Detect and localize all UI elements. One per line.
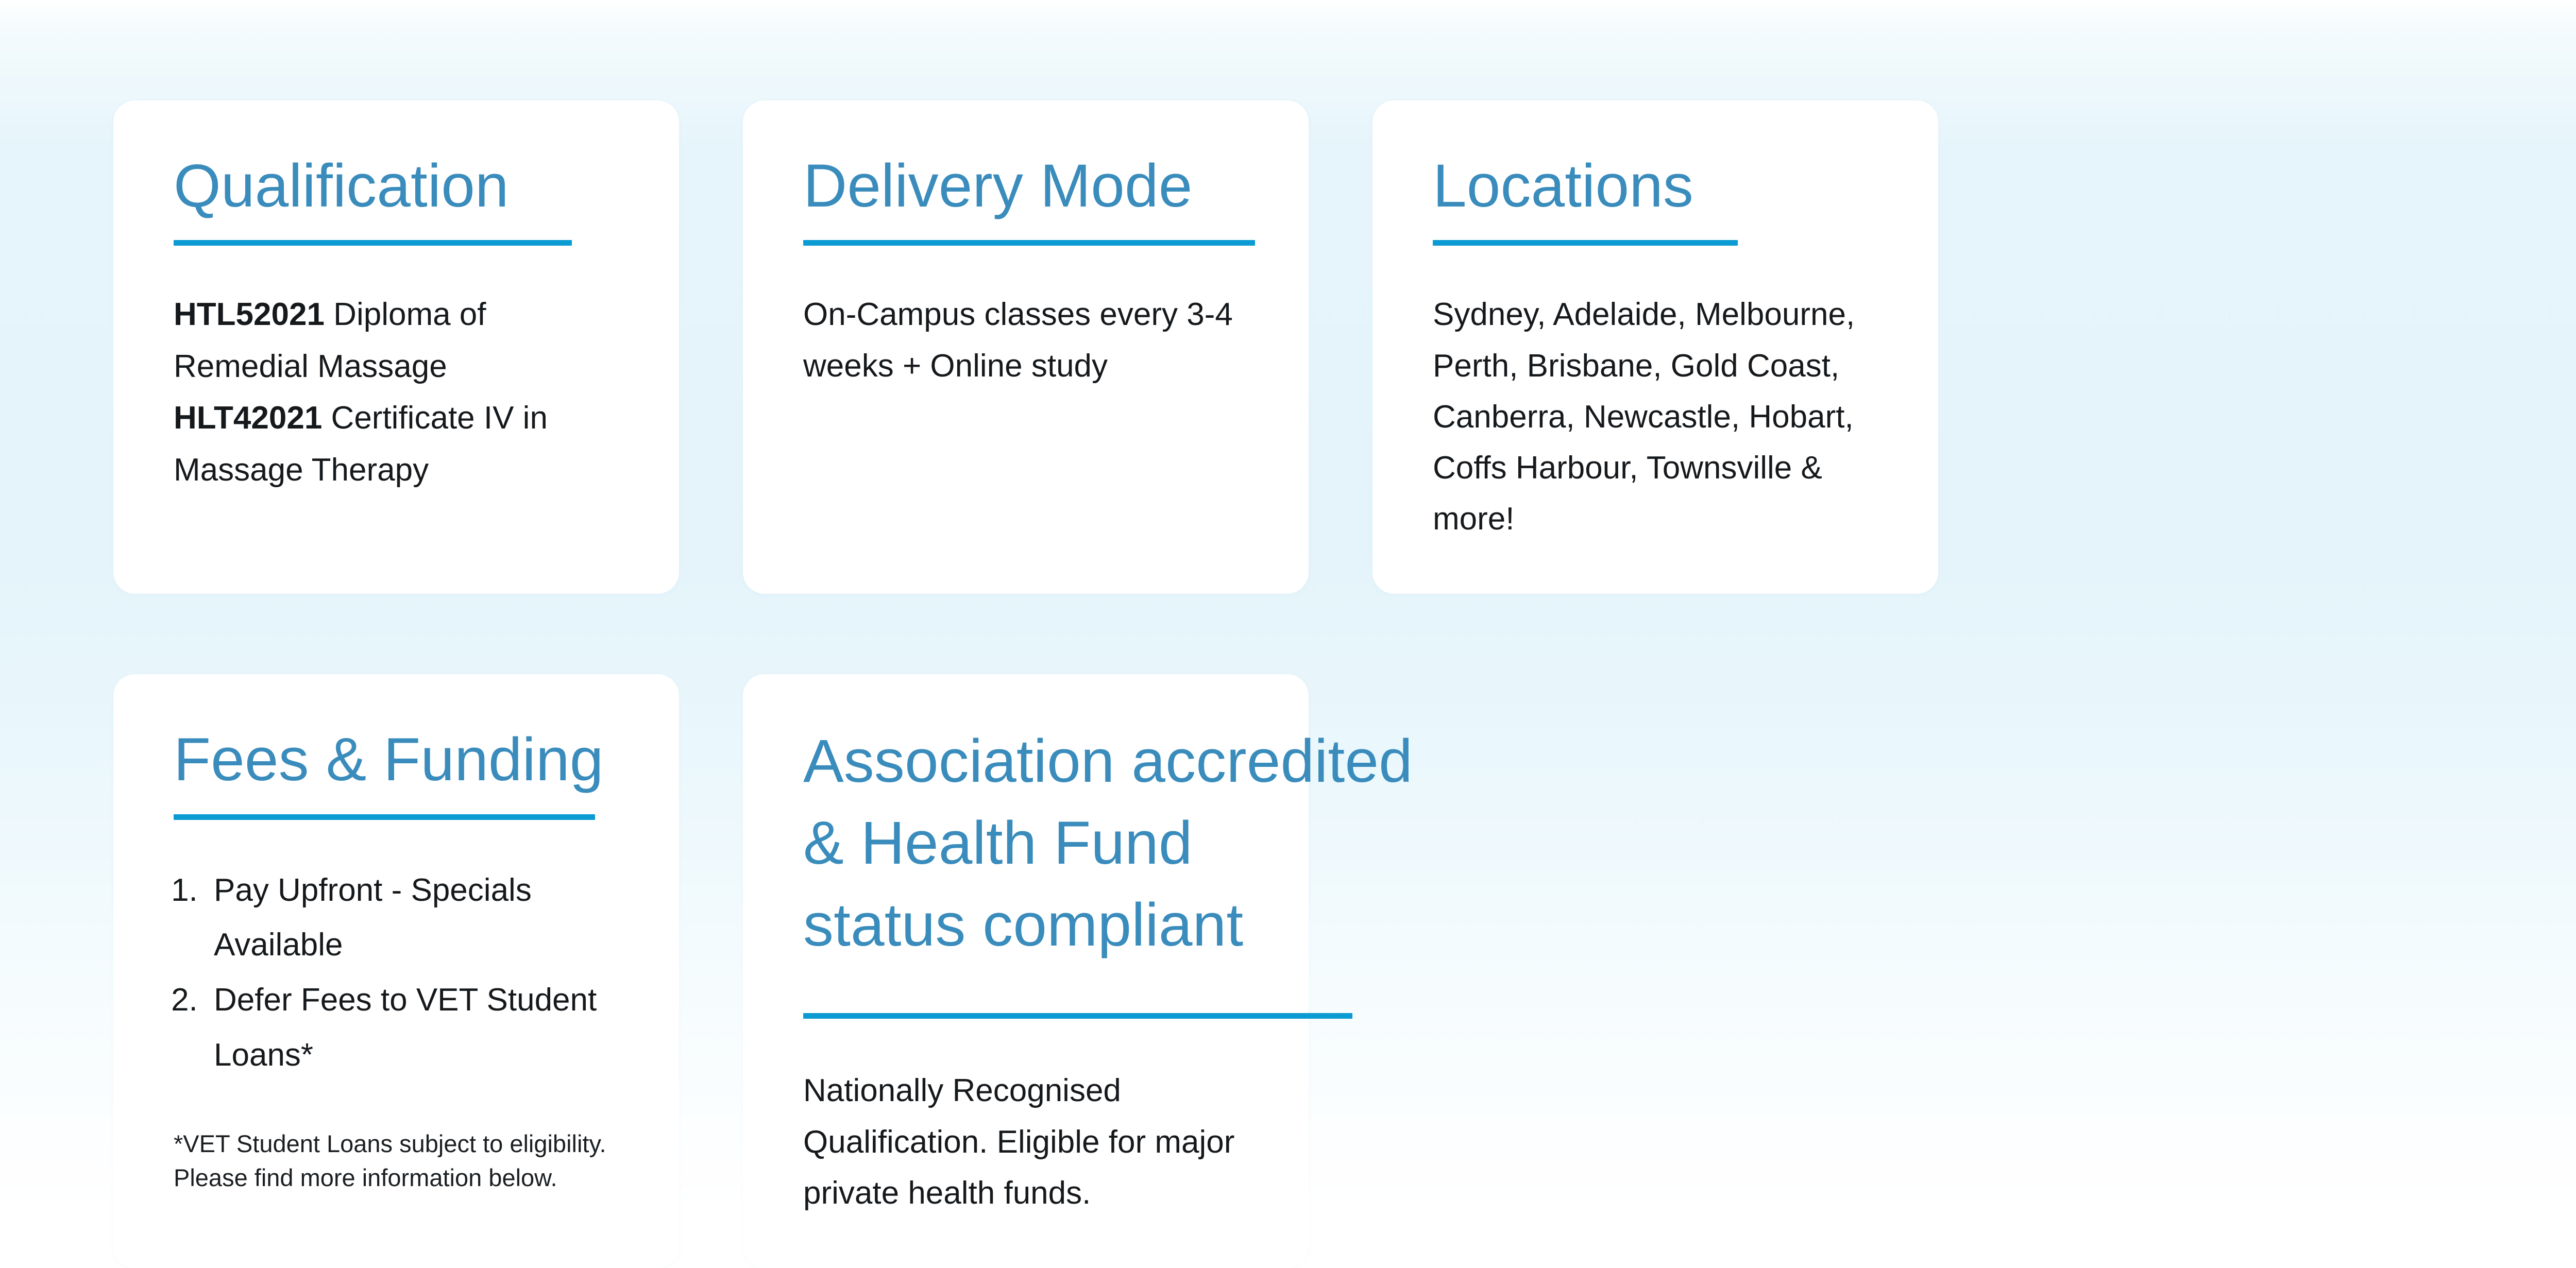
qualification-row: HTL52021 Diploma of Remedial Massage [174,289,619,392]
card-title-fees-funding: Fees & Funding [174,721,603,799]
card-title-delivery-mode: Delivery Mode [803,147,1192,226]
info-card-grid: Qualification HTL52021 Diploma of Remedi… [113,100,2576,1268]
title-underline-locations [1433,240,1738,246]
card-title-line: Association accredited [803,721,1413,802]
card-fees-funding: Fees & Funding Pay Upfront - Specials Av… [113,674,679,1268]
title-underline-association-accredited [803,1013,1352,1019]
card-title-qualification: Qualification [174,147,509,226]
title-underline-fees-funding [174,814,595,820]
qualification-code: HTL52021 [174,297,325,332]
card-body-association-accredited: Nationally Recognised Qualification. Eli… [803,1065,1248,1219]
card-title-locations: Locations [1433,147,1693,226]
card-locations: Locations Sydney, Adelaide, Melbourne, P… [1372,100,1938,594]
card-body-locations: Sydney, Adelaide, Melbourne, Perth, Bris… [1433,289,1878,544]
qualification-row: HLT42021 Certificate IV in Massage Thera… [174,392,619,496]
card-delivery-mode: Delivery Mode On-Campus classes every 3-… [743,100,1309,594]
card-title-association-accredited: Association accredited & Health Fund sta… [803,721,1413,966]
qualification-code: HLT42021 [174,400,322,436]
empty-grid-slot [1372,674,1938,1268]
fees-footnote: *VET Student Loans subject to eligibilit… [174,1127,619,1195]
title-underline-delivery-mode [803,240,1255,246]
card-body-delivery-mode: On-Campus classes every 3-4 weeks + Onli… [803,289,1248,391]
page-root: Qualification HTL52021 Diploma of Remedi… [0,0,2576,1213]
card-association-accredited: Association accredited & Health Fund sta… [743,674,1309,1268]
card-body-qualification: HTL52021 Diploma of Remedial Massage HLT… [174,289,619,496]
card-qualification: Qualification HTL52021 Diploma of Remedi… [113,100,679,594]
title-underline-qualification [174,240,572,246]
card-title-line: & Health Fund [803,802,1413,884]
list-item: Pay Upfront - Specials Available [207,863,619,973]
card-title-line: status compliant [803,884,1413,966]
list-item: Defer Fees to VET Student Loans* [207,973,619,1083]
fees-options-list: Pay Upfront - Specials Available Defer F… [174,863,619,1083]
